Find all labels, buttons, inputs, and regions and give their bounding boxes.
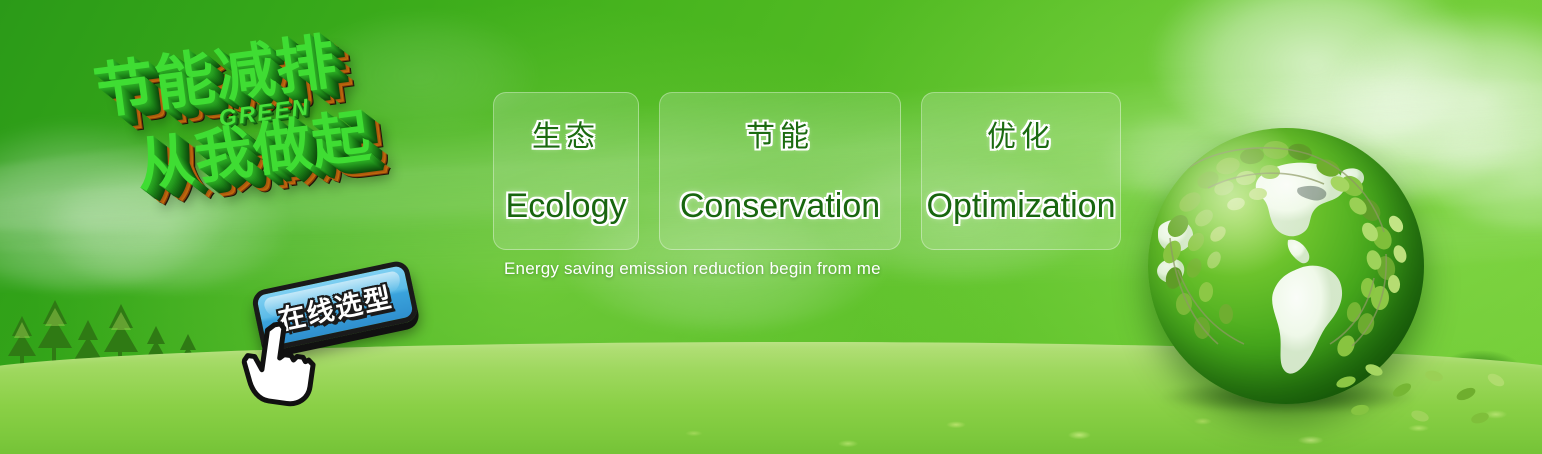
globe-sphere (1148, 128, 1424, 404)
feature-card-en-label: Optimization (927, 187, 1116, 226)
feature-cards: 生态 Ecology 节能 Conservation 优化 Optimizati… (493, 92, 1121, 250)
feature-card-cn-label: 优化 (987, 113, 1055, 155)
globe-continents (1148, 128, 1424, 404)
feature-card-conservation[interactable]: 节能 Conservation (659, 92, 901, 250)
green-energy-banner: 节能减排 GREEN 从我做起 在线选型 生态 Ecology 节能 Conse… (0, 0, 1542, 454)
tagline-text: Energy saving emission reduction begin f… (504, 259, 881, 279)
online-selection-button-label: 在线选型 (274, 275, 396, 337)
feature-card-ecology[interactable]: 生态 Ecology (493, 92, 639, 250)
feature-card-optimization[interactable]: 优化 Optimization (921, 92, 1121, 250)
feature-card-en-label: Ecology (506, 187, 627, 226)
feature-card-cn-label: 节能 (746, 113, 814, 155)
leafy-earth-globe-icon (1148, 128, 1424, 404)
feature-card-cn-label: 生态 (532, 113, 600, 155)
feature-card-en-label: Conservation (680, 187, 880, 226)
